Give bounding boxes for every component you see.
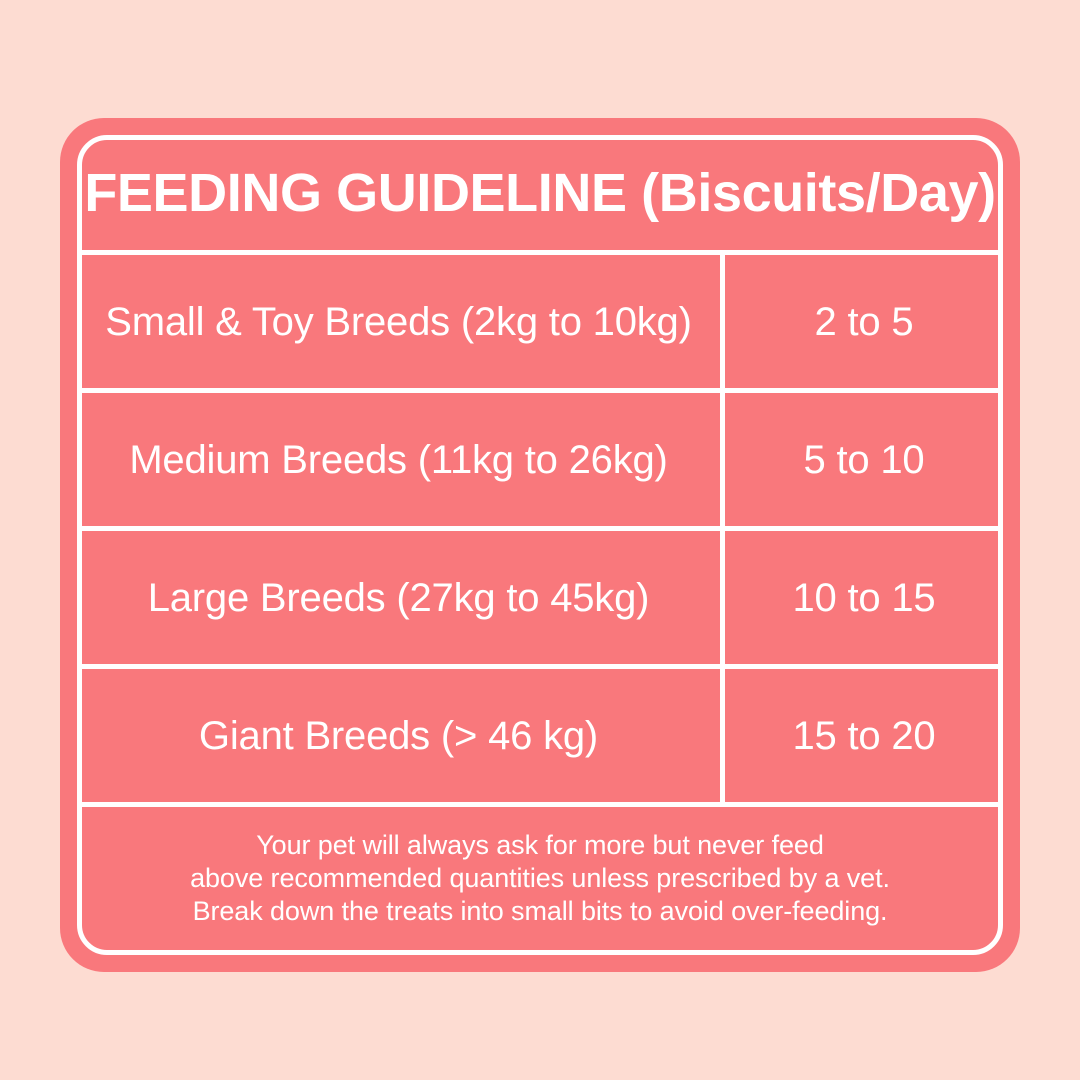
poster-canvas: FEEDING GUIDELINE (Biscuits/Day) Small &…	[0, 0, 1080, 1080]
feeding-note: Your pet will always ask for more but ne…	[190, 829, 890, 928]
breed-category-label: Small & Toy Breeds (2kg to 10kg)	[105, 300, 691, 344]
page-title: FEEDING GUIDELINE (Biscuits/Day)	[84, 166, 995, 220]
feeding-guideline-table: FEEDING GUIDELINE (Biscuits/Day) Small &…	[77, 135, 1003, 955]
feeding-note-line: above recommended quantities unless pres…	[190, 862, 890, 895]
feeding-note-line: Your pet will always ask for more but ne…	[190, 829, 890, 862]
table-title-row: FEEDING GUIDELINE (Biscuits/Day)	[77, 135, 1003, 250]
breed-category-cell: Large Breeds (27kg to 45kg)	[77, 531, 720, 664]
breed-category-cell: Small & Toy Breeds (2kg to 10kg)	[77, 255, 720, 388]
breed-category-cell: Giant Breeds (> 46 kg)	[77, 669, 720, 802]
table-row: Large Breeds (27kg to 45kg) 10 to 15	[77, 526, 1003, 664]
breed-category-label: Medium Breeds (11kg to 26kg)	[129, 438, 667, 482]
biscuits-per-day-value: 5 to 10	[804, 438, 925, 482]
biscuits-per-day-cell: 5 to 10	[720, 393, 1003, 526]
feeding-guideline-card: FEEDING GUIDELINE (Biscuits/Day) Small &…	[60, 118, 1020, 972]
breed-category-label: Large Breeds (27kg to 45kg)	[148, 576, 650, 620]
table-footnote-row: Your pet will always ask for more but ne…	[77, 802, 1003, 955]
biscuits-per-day-value: 2 to 5	[815, 300, 914, 344]
biscuits-per-day-cell: 10 to 15	[720, 531, 1003, 664]
feeding-note-line: Break down the treats into small bits to…	[190, 895, 890, 928]
biscuits-per-day-value: 10 to 15	[793, 576, 936, 620]
biscuits-per-day-cell: 2 to 5	[720, 255, 1003, 388]
table-row: Medium Breeds (11kg to 26kg) 5 to 10	[77, 388, 1003, 526]
breed-category-label: Giant Breeds (> 46 kg)	[199, 714, 598, 758]
biscuits-per-day-value: 15 to 20	[793, 714, 936, 758]
table-row: Giant Breeds (> 46 kg) 15 to 20	[77, 664, 1003, 802]
biscuits-per-day-cell: 15 to 20	[720, 669, 1003, 802]
table-row: Small & Toy Breeds (2kg to 10kg) 2 to 5	[77, 250, 1003, 388]
breed-category-cell: Medium Breeds (11kg to 26kg)	[77, 393, 720, 526]
